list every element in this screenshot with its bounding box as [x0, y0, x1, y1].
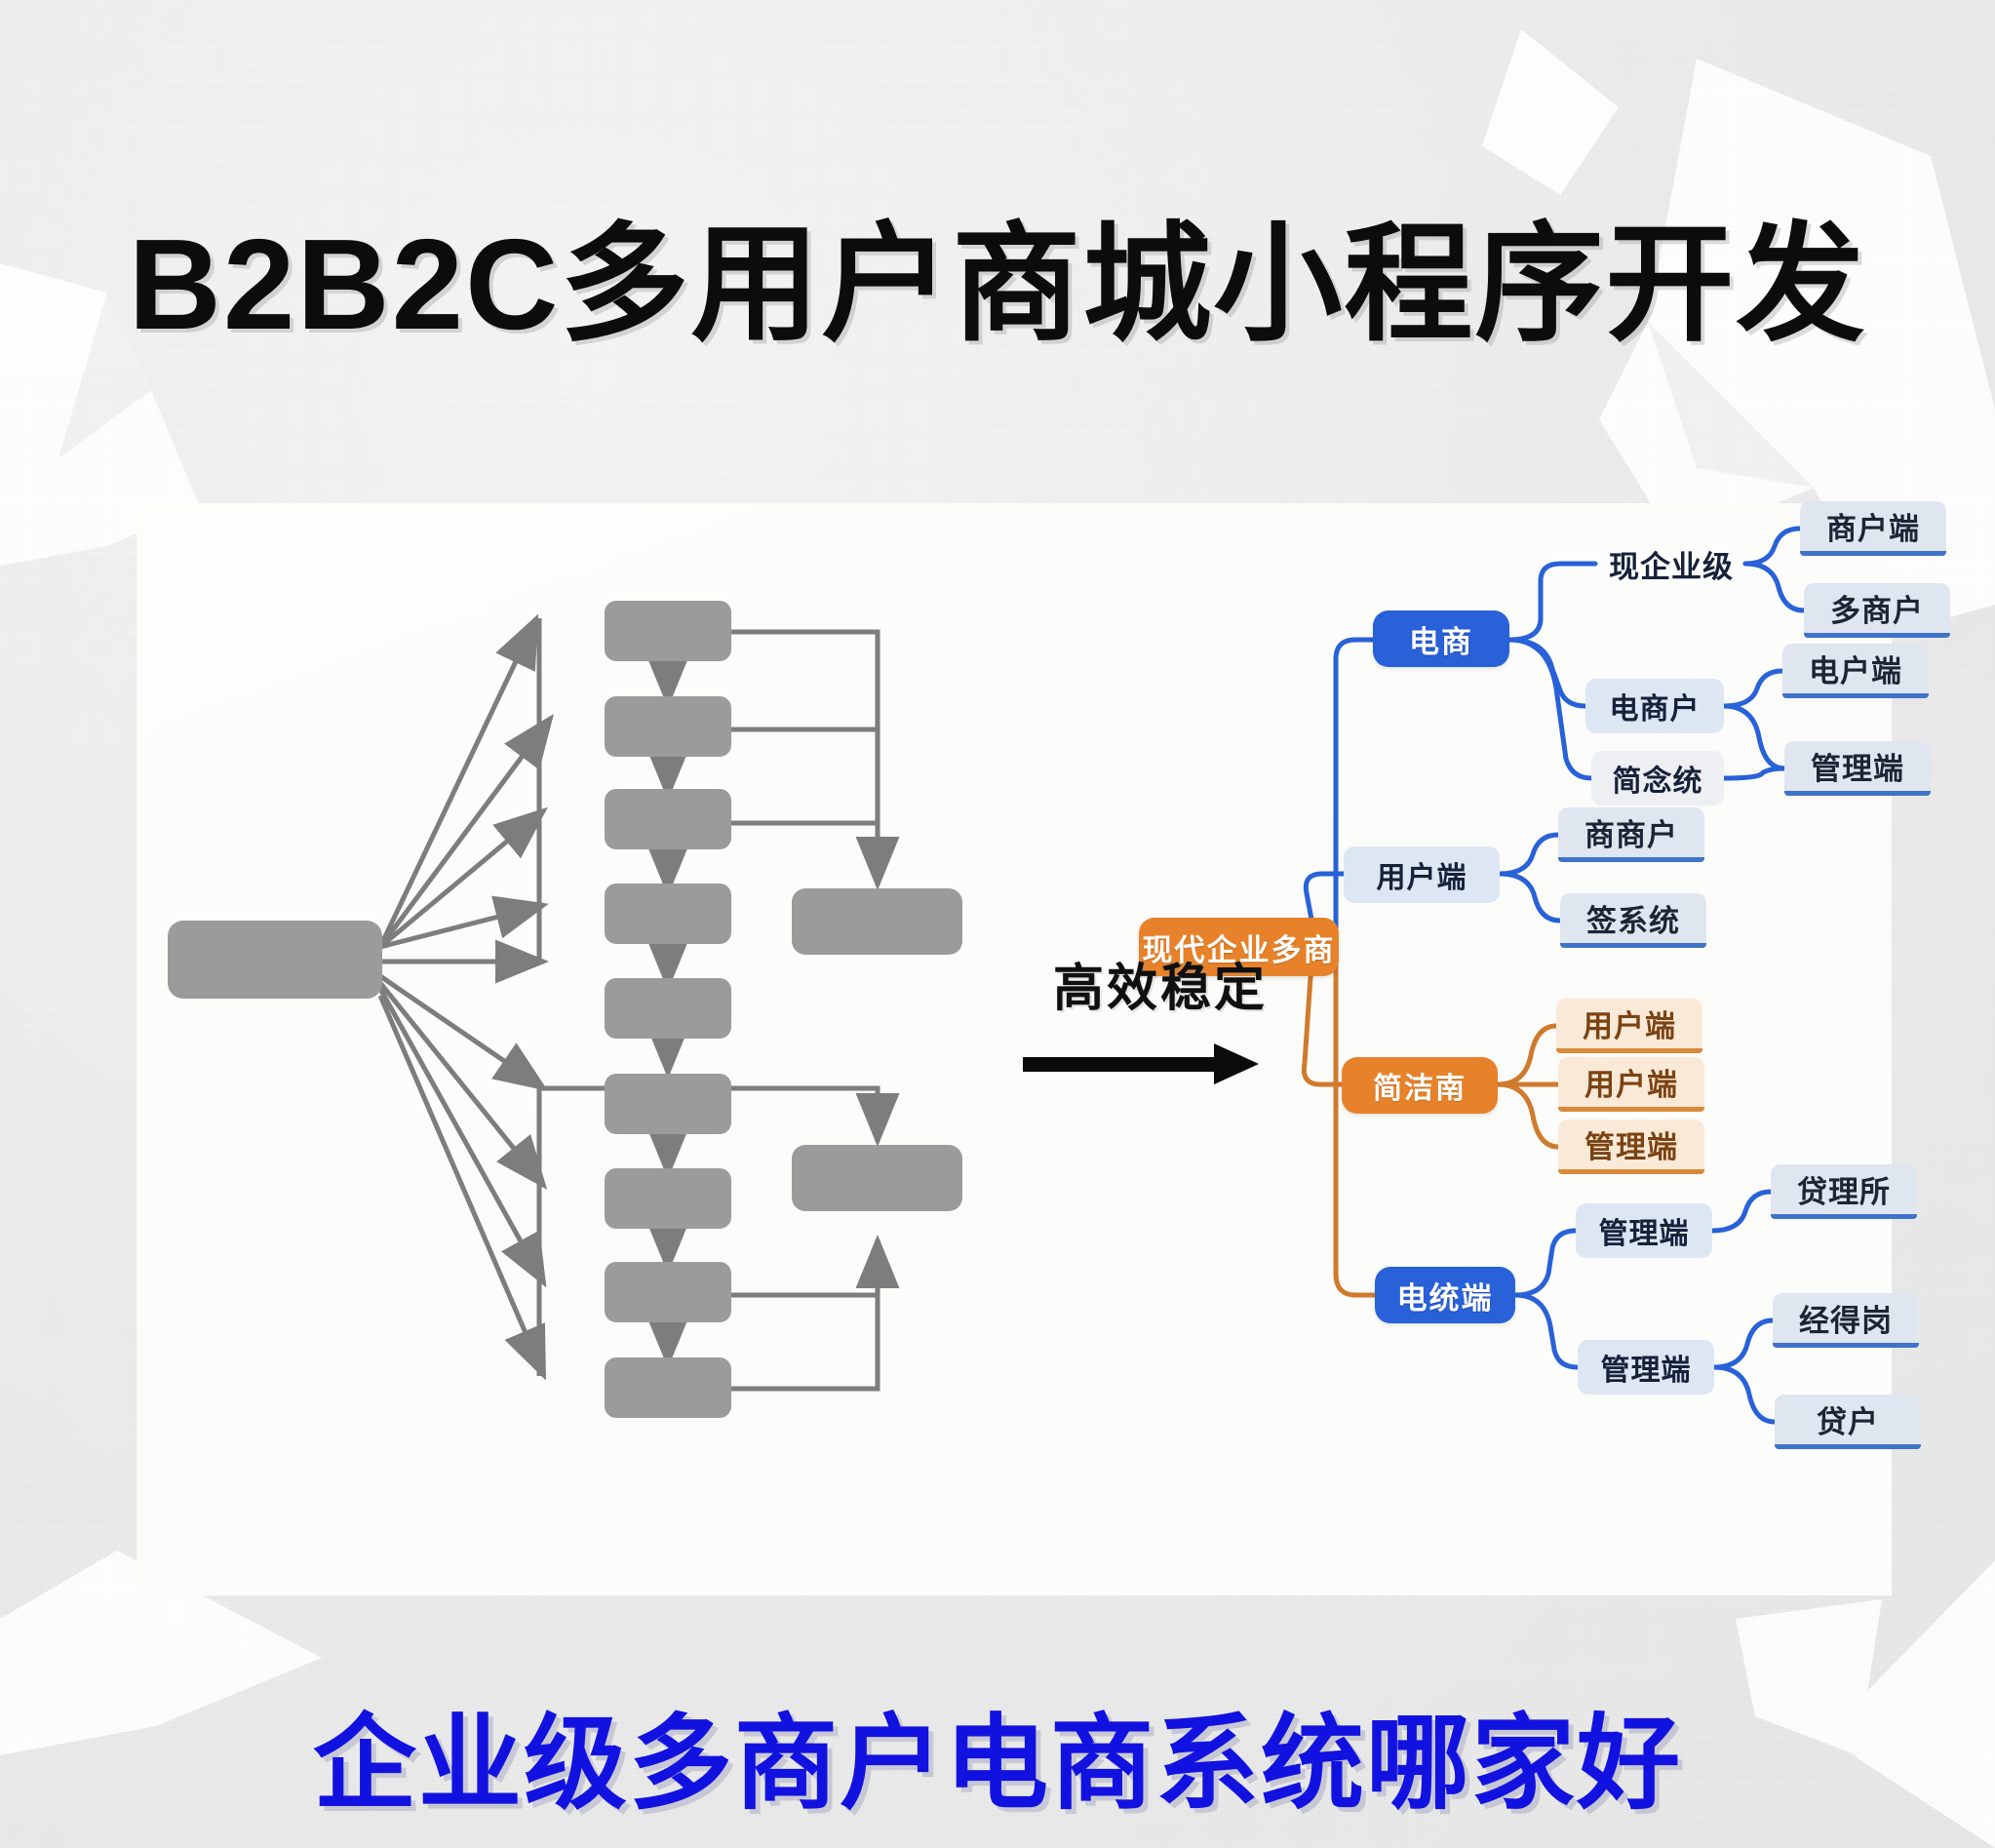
branch-label: 电统端 [1397, 1274, 1494, 1317]
mindmap-branch-system-client[interactable]: 电统端 [1375, 1267, 1515, 1323]
mindmap-leaf-business-merchant[interactable]: 商商户 [1558, 807, 1704, 862]
mindmap-leaf-user-client-1[interactable]: 用户端 [1556, 999, 1702, 1053]
mindmap-node-admin-upper[interactable]: 管理端 [1576, 1203, 1712, 1258]
page-title: B2B2C多用户商城小程序开发 [0, 180, 1995, 367]
leaf-label: 用户端 [1584, 1060, 1678, 1104]
leaf-label: 商户端 [1826, 504, 1920, 548]
flow-side-node [792, 888, 962, 955]
flow-node [605, 789, 731, 849]
flow-node [605, 696, 731, 757]
flow-node [605, 1074, 731, 1134]
mindmap-leaf-sign-system[interactable]: 签系统 [1560, 893, 1706, 948]
mindmap-leaf-customer-client[interactable]: 电户端 [1782, 644, 1929, 698]
page-subtitle: 企业级多商户电商系统哪家好 [0, 1679, 1995, 1829]
leaf-label: 电户端 [1809, 647, 1902, 690]
node-label: 现企业级 [1609, 542, 1734, 586]
mindmap-leaf-user-client-2[interactable]: 用户端 [1558, 1057, 1704, 1112]
leaf-label: 管理端 [1811, 744, 1904, 788]
mindmap-leaf-merchant-client[interactable]: 商户端 [1800, 501, 1946, 556]
mindmap-leaf-manager-post[interactable]: 经得岗 [1773, 1293, 1919, 1348]
node-label: 管理端 [1599, 1209, 1690, 1252]
leaf-label: 管理端 [1584, 1122, 1678, 1166]
mindmap-leaf-multi-merchant[interactable]: 多商户 [1804, 583, 1950, 638]
leaf-label: 用户端 [1583, 1002, 1676, 1045]
flow-node [605, 1357, 731, 1418]
node-label: 简念统 [1613, 757, 1703, 800]
flow-node [605, 884, 731, 944]
mindmap-branch-simple[interactable]: 简洁南 [1342, 1057, 1498, 1114]
node-label: 管理端 [1601, 1346, 1692, 1389]
mindmap-leaf-loan-office[interactable]: 贷理所 [1771, 1164, 1917, 1219]
flow-side-node [792, 1145, 962, 1211]
transition-callout: 高效稳定 [1019, 947, 1302, 1081]
mindmap-node-ecommerce-merchant[interactable]: 电商户 [1585, 679, 1724, 733]
leaf-label: 签系统 [1586, 896, 1680, 940]
flow-node [605, 1168, 731, 1229]
node-label: 电商户 [1610, 685, 1701, 727]
mindmap-node-enterprise-grade[interactable]: 现企业级 [1595, 536, 1747, 591]
branch-label: 简洁南 [1373, 1064, 1467, 1107]
poster-canvas: B2B2C多用户商城小程序开发 [0, 0, 1995, 1848]
flow-source-node [168, 921, 382, 999]
mindmap-node-admin-lower[interactable]: 管理端 [1578, 1340, 1714, 1395]
leaf-label: 贷理所 [1797, 1167, 1891, 1211]
mindmap-leaf-loan-customer[interactable]: 贷户 [1775, 1395, 1921, 1449]
leaf-label: 多商户 [1830, 586, 1924, 630]
mindmap-branch-ecommerce[interactable]: 电商 [1373, 610, 1509, 667]
mindmap-leaf-admin-client-1[interactable]: 管理端 [1784, 741, 1931, 796]
branch-label: 用户端 [1377, 853, 1467, 896]
mindmap-leaf-admin-client-2[interactable]: 管理端 [1558, 1120, 1704, 1174]
flow-node [605, 978, 731, 1039]
leaf-label: 商商户 [1584, 810, 1678, 854]
right-arrow-icon [1019, 1047, 1302, 1081]
flow-node [605, 1262, 731, 1322]
flow-node [605, 601, 731, 661]
mindmap-node-simple-system[interactable]: 简念统 [1591, 751, 1724, 806]
mindmap-branch-user-client[interactable]: 用户端 [1344, 846, 1500, 903]
callout-label: 高效稳定 [1019, 947, 1302, 1020]
content-card: 高效稳定 [137, 503, 1892, 1595]
branch-label: 电商 [1409, 617, 1473, 661]
legacy-flowchart-diagram [137, 503, 1112, 1595]
leaf-label: 经得岗 [1799, 1296, 1893, 1340]
leaf-label: 贷户 [1817, 1397, 1879, 1441]
